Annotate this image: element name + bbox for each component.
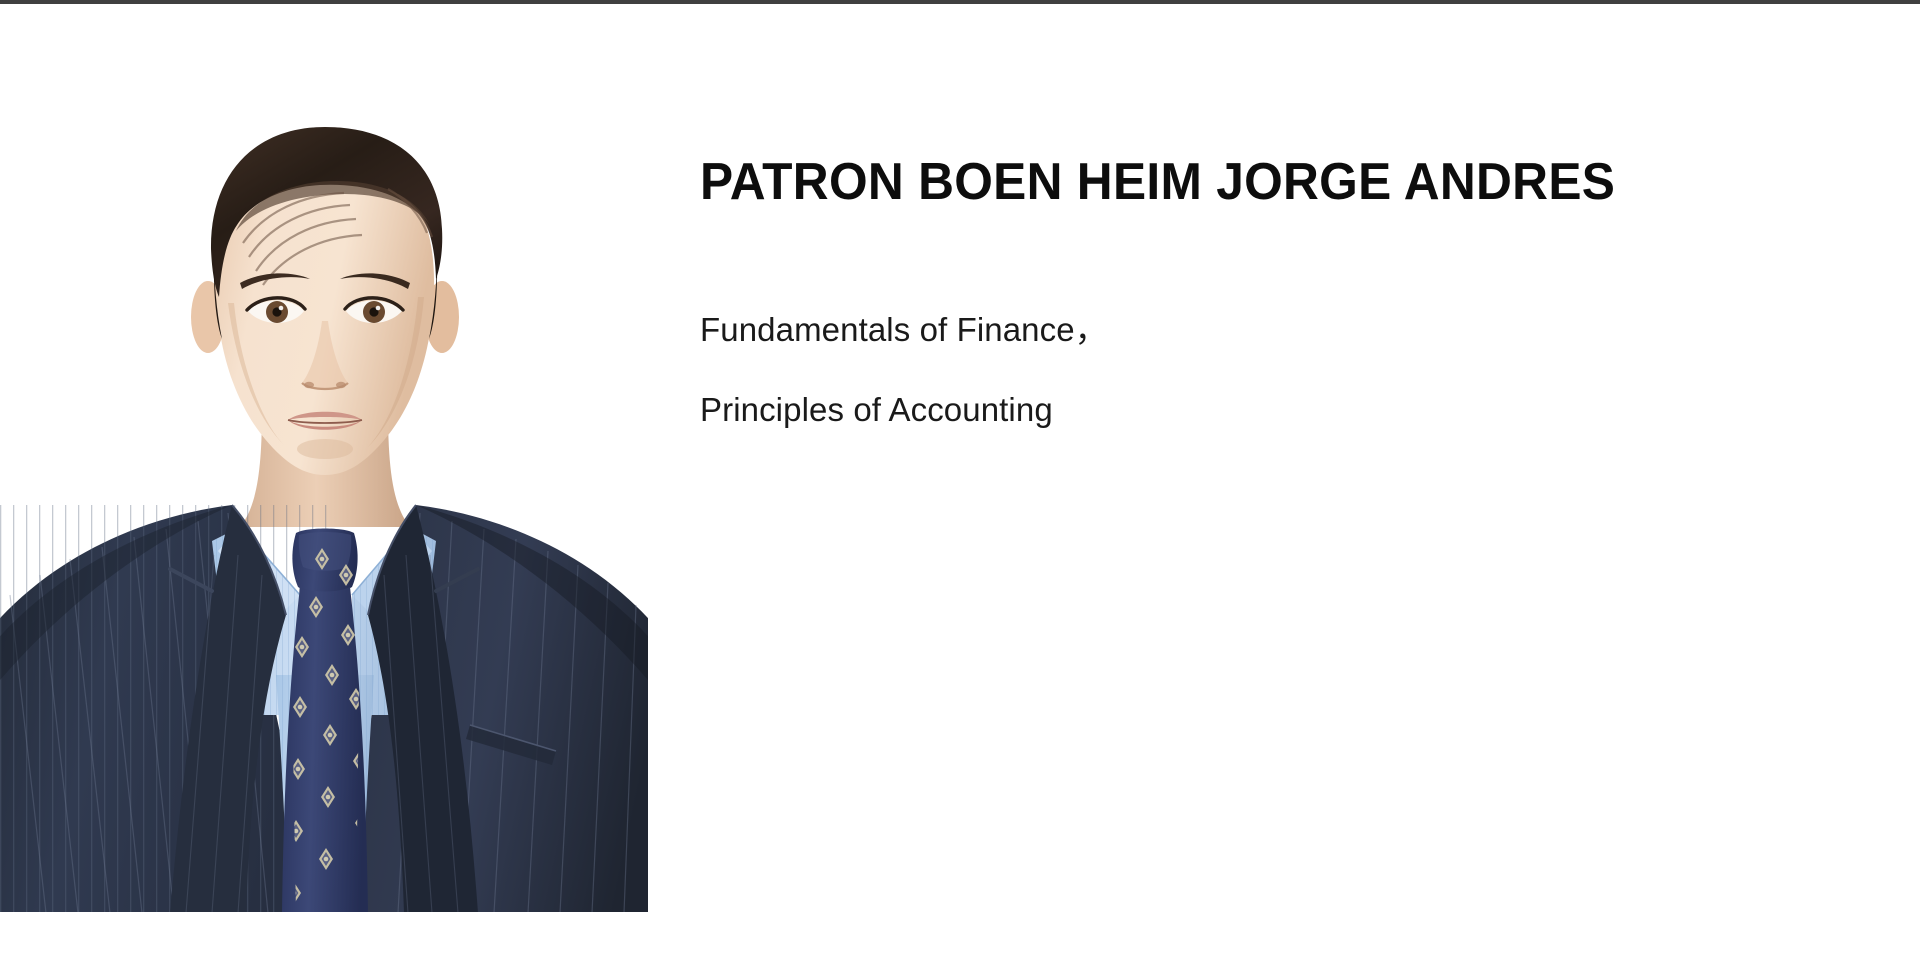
page-title: PATRON BOEN HEIM JORGE ANDRES (700, 152, 1789, 212)
portrait-illustration (0, 35, 648, 912)
course-item: Fundamentals of Finance， (700, 290, 1840, 370)
course-item: Principles of Accounting (700, 370, 1840, 450)
faculty-info-block: PATRON BOEN HEIM JORGE ANDRES Fundamenta… (700, 152, 1840, 450)
portrait-photo (0, 35, 648, 912)
course-list: Fundamentals of Finance， Principles of A… (700, 290, 1840, 450)
slide-canvas: PATRON BOEN HEIM JORGE ANDRES Fundamenta… (0, 4, 1920, 970)
